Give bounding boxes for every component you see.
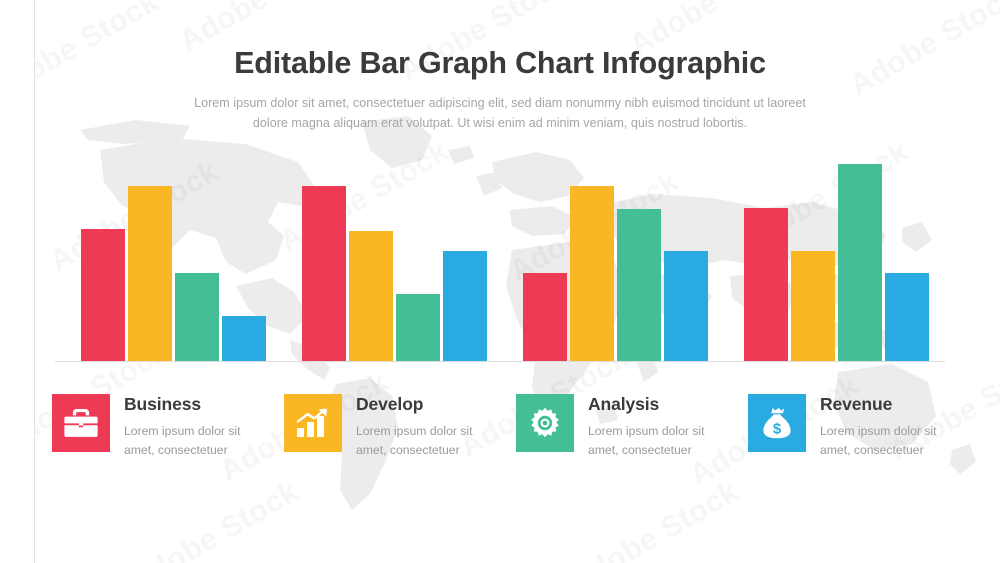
page-subtitle: Lorem ipsum dolor sit amet, consectetuer… (175, 93, 825, 134)
legend-item-develop[interactable]: Develop Lorem ipsum dolor sit amet, cons… (284, 394, 514, 460)
bar-chart (55, 150, 945, 362)
bar-group2-develop[interactable] (349, 231, 393, 361)
svg-text:$: $ (773, 420, 782, 437)
legend-item-analysis[interactable]: Analysis Lorem ipsum dolor sit amet, con… (516, 394, 746, 460)
bar-group3-analysis[interactable] (617, 209, 661, 361)
legend-description: Lorem ipsum dolor sit amet, consectetuer (356, 422, 482, 460)
legend-description: Lorem ipsum dolor sit amet, consectetuer (588, 422, 714, 460)
legend-title: Business (124, 395, 250, 415)
header: Editable Bar Graph Chart Infographic Lor… (0, 0, 1000, 134)
bar-group1-analysis[interactable] (175, 273, 219, 361)
bar-group2-analysis[interactable] (396, 294, 440, 361)
stock-watermark-sidebar: Adobe Stock | #584645322 (0, 0, 35, 563)
legend-item-business[interactable]: Business Lorem ipsum dolor sit amet, con… (52, 394, 282, 460)
bar-group1-revenue[interactable] (222, 316, 266, 361)
bar-group4-develop[interactable] (791, 251, 835, 361)
bar-group1-develop[interactable] (128, 186, 172, 361)
legend-title: Revenue (820, 395, 946, 415)
bar-group3-develop[interactable] (570, 186, 614, 361)
chart-baseline-axis (55, 361, 945, 362)
legend-description: Lorem ipsum dolor sit amet, consectetuer (124, 422, 250, 460)
legend-item-revenue[interactable]: $ Revenue Lorem ipsum dolor sit amet, co… (748, 394, 978, 460)
money-bag-icon: $ (748, 394, 806, 452)
bar-group3-business[interactable] (523, 273, 567, 361)
legend-title: Develop (356, 395, 482, 415)
bar-group2-business[interactable] (302, 186, 346, 361)
bar-group4-revenue[interactable] (885, 273, 929, 361)
legend-description: Lorem ipsum dolor sit amet, consectetuer (820, 422, 946, 460)
bar-group3-revenue[interactable] (664, 251, 708, 361)
bar-group4-business[interactable] (744, 208, 788, 361)
legend-title: Analysis (588, 395, 714, 415)
watermark-tile: Adobe Stock (564, 475, 745, 563)
bar-group4-analysis[interactable] (838, 164, 882, 361)
bar-group2-revenue[interactable] (443, 251, 487, 361)
gear-icon (516, 394, 574, 452)
page-title: Editable Bar Graph Chart Infographic (0, 0, 1000, 81)
bar-chart-growth-icon (284, 394, 342, 452)
briefcase-icon (52, 394, 110, 452)
bar-group1-business[interactable] (81, 229, 125, 361)
watermark-tile: Adobe Stock (124, 475, 305, 563)
